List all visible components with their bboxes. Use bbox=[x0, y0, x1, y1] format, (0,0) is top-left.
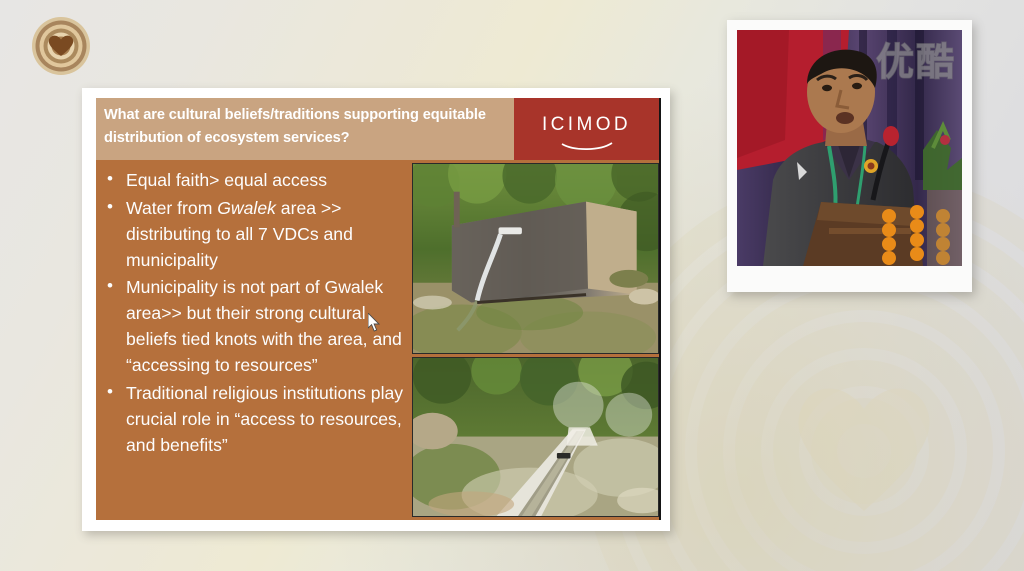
slide-bullet-column: Equal faith> equal access Water from Gwa… bbox=[96, 160, 412, 520]
presentation-slide-card: What are cultural beliefs/traditions sup… bbox=[82, 88, 670, 531]
slide-title: What are cultural beliefs/traditions sup… bbox=[104, 104, 508, 149]
speaker-video-thumbnail[interactable]: 优酷 bbox=[727, 20, 972, 292]
slide-photo-column bbox=[412, 160, 659, 520]
bullet-text: Equal faith> equal access bbox=[126, 170, 327, 190]
channel-ring-heart-logo[interactable] bbox=[31, 16, 91, 76]
bullet-text: Traditional religious institutions play … bbox=[126, 383, 403, 455]
slide-body: Equal faith> equal access Water from Gwa… bbox=[96, 160, 659, 520]
photo-water-canal bbox=[412, 357, 659, 517]
bullet-item-2: Water from Gwalek area >> distributing t… bbox=[103, 196, 406, 274]
icimod-swoosh-icon bbox=[560, 140, 614, 152]
speaker-photo: 优酷 bbox=[737, 30, 962, 266]
video-player-frame: What are cultural beliefs/traditions sup… bbox=[0, 0, 1024, 571]
icimod-logo: ICIMOD bbox=[514, 98, 659, 160]
bullet-text: Municipality is not part of Gwalek area>… bbox=[126, 277, 402, 375]
slide-bullet-list: Equal faith> equal access Water from Gwa… bbox=[103, 168, 406, 458]
bullet-item-1: Equal faith> equal access bbox=[103, 168, 406, 194]
slide-title-band: What are cultural beliefs/traditions sup… bbox=[96, 98, 514, 160]
bullet-text-italic: Gwalek bbox=[217, 198, 276, 218]
slide-header: What are cultural beliefs/traditions sup… bbox=[96, 98, 659, 160]
bullet-text-pre: Water from bbox=[126, 198, 217, 218]
bullet-item-3: Municipality is not part of Gwalek area>… bbox=[103, 275, 406, 378]
presentation-slide: What are cultural beliefs/traditions sup… bbox=[96, 98, 661, 520]
photo-water-tank bbox=[412, 163, 659, 354]
icimod-wordmark: ICIMOD bbox=[514, 114, 659, 136]
bullet-item-4: Traditional religious institutions play … bbox=[103, 381, 406, 459]
